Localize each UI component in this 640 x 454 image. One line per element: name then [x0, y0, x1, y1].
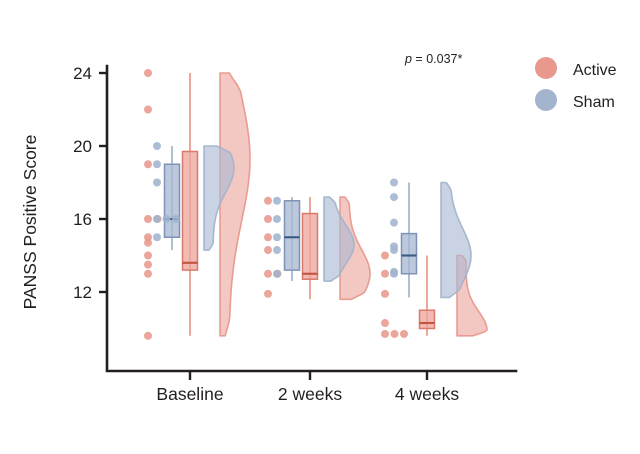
scatter-point: [381, 290, 389, 298]
box-sham: [402, 234, 417, 274]
box-active: [183, 151, 198, 270]
svg-text:p = 0.037*: p = 0.037*: [404, 52, 462, 66]
ytick-label-20: 20: [73, 137, 92, 156]
box-sham: [165, 164, 180, 237]
box-active: [420, 310, 435, 328]
scatter-point: [390, 193, 398, 201]
scatter-sham: [273, 197, 281, 278]
scatter-point: [144, 239, 152, 247]
ytick-label-24: 24: [73, 64, 92, 83]
scatter-point: [153, 215, 161, 223]
y-axis-label: PANSS Positive Score: [20, 135, 40, 310]
scatter-point: [264, 233, 272, 241]
scatter-point: [273, 233, 281, 241]
scatter-point: [144, 332, 152, 340]
scatter-point: [264, 197, 272, 205]
box-active: [303, 214, 318, 280]
chart-svg: 24 20 16 12 Baseline 2 weeks 4 weeks PAN…: [0, 0, 640, 454]
legend-label-sham: Sham: [573, 94, 615, 111]
scatter-point: [264, 246, 272, 254]
scatter-point: [264, 290, 272, 298]
scatter-point: [390, 270, 398, 278]
scatter-point: [273, 246, 281, 254]
scatter-point: [172, 215, 180, 223]
scatter-point: [153, 179, 161, 187]
p-value-annotation: p = 0.037*: [404, 52, 462, 66]
scatter-point: [144, 215, 152, 223]
violin-active: [220, 73, 250, 336]
category-label-baseline: Baseline: [156, 384, 223, 404]
category-label-2weeks: 2 weeks: [278, 384, 342, 404]
scatter-point: [144, 270, 152, 278]
scatter-point: [144, 261, 152, 269]
scatter-point: [381, 252, 389, 260]
panss-raincloud-chart: 24 20 16 12 Baseline 2 weeks 4 weeks PAN…: [0, 0, 640, 454]
legend-swatch-active: [535, 57, 557, 79]
scatter-active: [144, 69, 162, 340]
scatter-point: [144, 69, 152, 77]
scatter-point: [273, 270, 281, 278]
series-group-active-4weeks: [381, 252, 487, 338]
scatter-point: [264, 215, 272, 223]
box-sham: [285, 201, 300, 270]
scatter-point: [390, 179, 398, 187]
ytick-label-16: 16: [73, 210, 92, 229]
scatter-point: [400, 330, 408, 338]
scatter-point: [381, 330, 389, 338]
legend: Active Sham: [535, 57, 617, 111]
scatter-point: [391, 330, 399, 338]
scatter-point: [153, 142, 161, 150]
category-label-4weeks: 4 weeks: [395, 384, 459, 404]
scatter-point: [381, 319, 389, 327]
p-value-symbol: p: [404, 52, 412, 66]
ytick-label-12: 12: [73, 283, 92, 302]
plot-layer: [144, 69, 487, 340]
series-group-sham-4weeks: [390, 179, 471, 298]
legend-label-active: Active: [573, 62, 617, 79]
scatter-point: [163, 215, 171, 223]
scatter-point: [144, 106, 152, 114]
scatter-point: [381, 270, 389, 278]
series-group-active-Baseline: [144, 69, 250, 340]
scatter-point: [144, 252, 152, 260]
scatter-point: [144, 160, 152, 168]
scatter-point: [273, 215, 281, 223]
scatter-point: [153, 160, 161, 168]
legend-swatch-sham: [535, 89, 557, 111]
scatter-point: [390, 219, 398, 227]
p-value-text: = 0.037*: [412, 52, 463, 66]
scatter-point: [273, 197, 281, 205]
scatter-sham: [390, 179, 398, 278]
scatter-point: [153, 233, 161, 241]
scatter-point: [390, 246, 398, 254]
scatter-point: [264, 270, 272, 278]
